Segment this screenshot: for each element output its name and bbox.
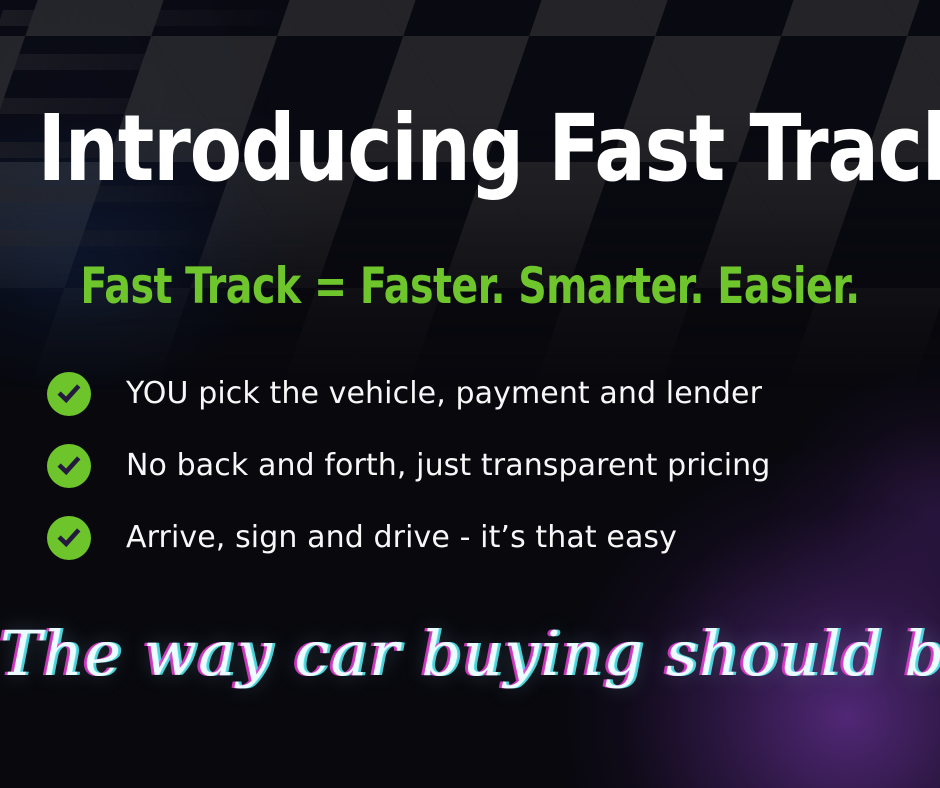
benefits-list: YOU pick the vehicle, payment and lender…	[47, 372, 907, 588]
list-item: Arrive, sign and drive - it’s that easy	[47, 516, 907, 560]
list-item-label: YOU pick the vehicle, payment and lender	[126, 379, 762, 409]
check-circle-icon	[47, 444, 91, 488]
poster-content: Introducing Fast Track Fast Track = Fast…	[0, 0, 940, 788]
list-item: No back and forth, just transparent pric…	[47, 444, 907, 488]
tagline: The way car buying should be.	[0, 612, 940, 696]
subtitle: Fast Track = Faster. Smarter. Easier.	[56, 261, 883, 311]
check-circle-icon	[47, 516, 91, 560]
list-item: YOU pick the vehicle, payment and lender	[47, 372, 907, 416]
page-title: Introducing Fast Track	[38, 103, 903, 195]
check-circle-icon	[47, 372, 91, 416]
list-item-label: Arrive, sign and drive - it’s that easy	[126, 523, 677, 553]
tagline-container: The way car buying should be.	[0, 612, 940, 722]
promo-poster: Introducing Fast Track Fast Track = Fast…	[0, 0, 940, 788]
list-item-label: No back and forth, just transparent pric…	[126, 451, 770, 481]
